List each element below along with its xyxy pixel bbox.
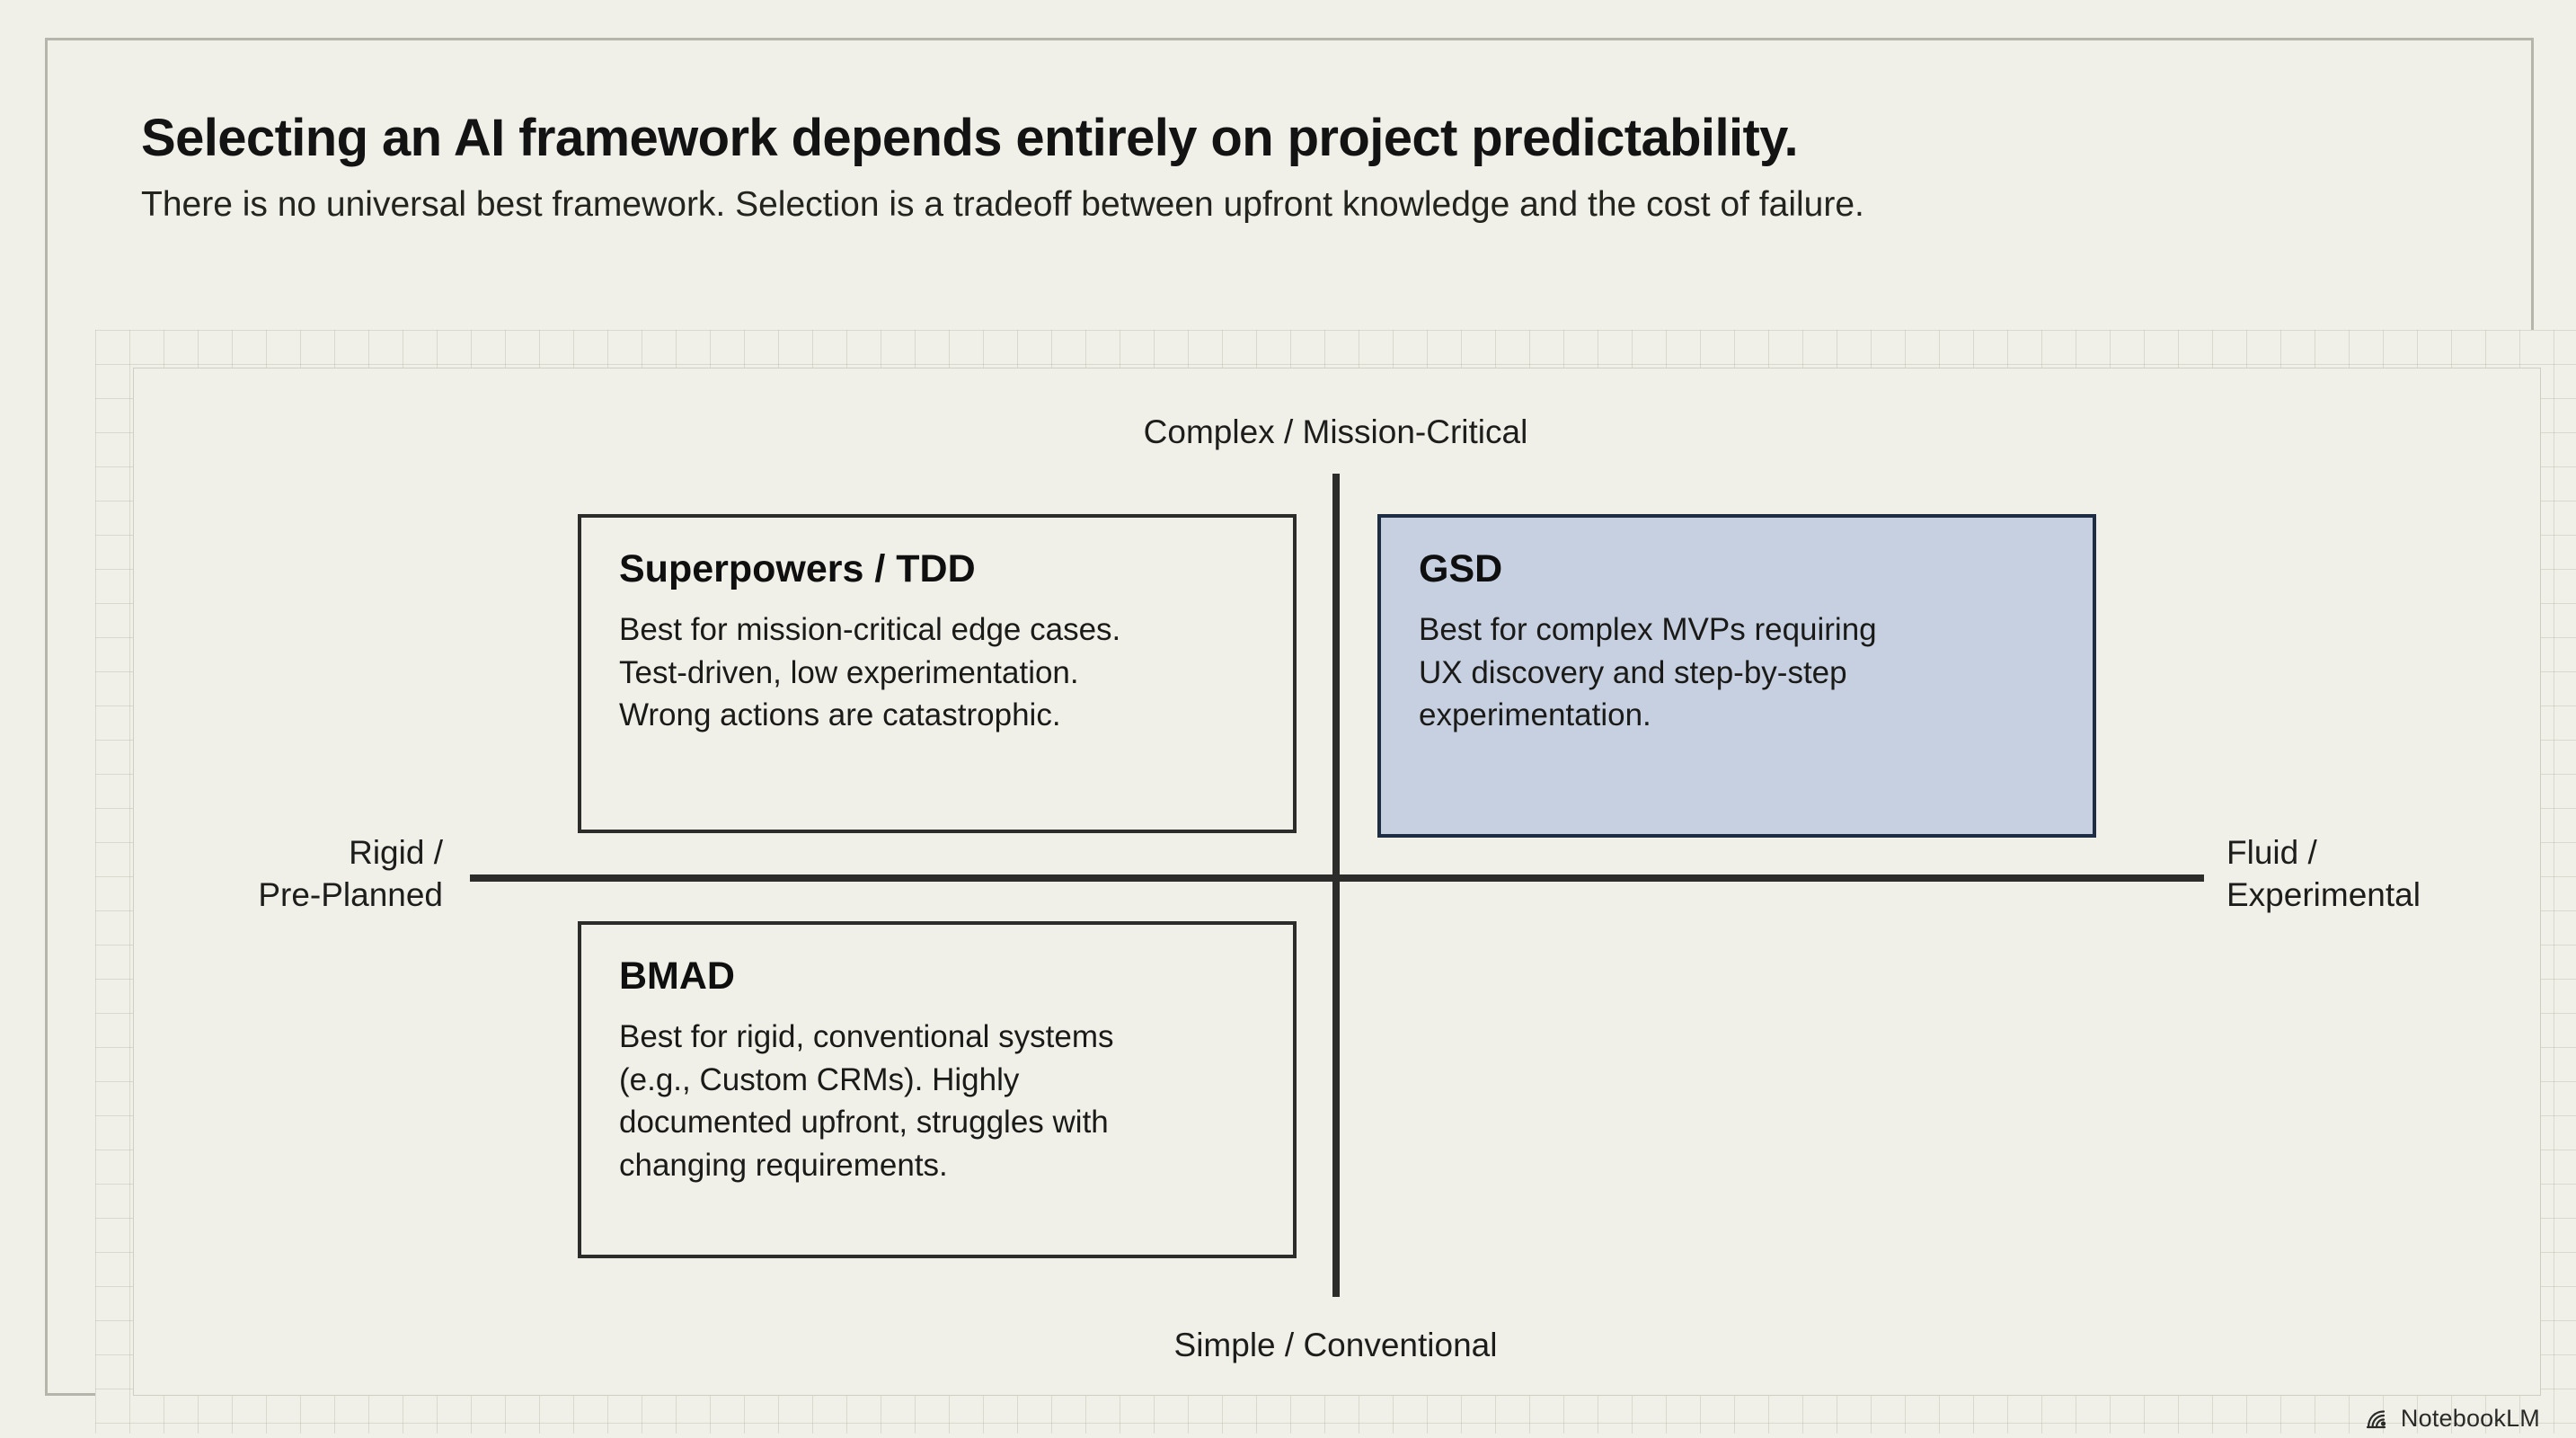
quadrant-title: GSD bbox=[1419, 548, 2058, 590]
quadrant-body: Best for rigid, conventional systems (e.… bbox=[619, 1016, 1259, 1186]
quadrant-card-gsd[interactable]: GSD Best for complex MVPs requiring UX d… bbox=[1377, 514, 2096, 838]
notebooklm-watermark-label: NotebookLM bbox=[2401, 1405, 2540, 1433]
quadrant-body: Best for mission-critical edge cases. Te… bbox=[619, 608, 1259, 737]
notebooklm-watermark: NotebookLM bbox=[2365, 1405, 2540, 1433]
vertical-axis-line bbox=[1332, 474, 1340, 1297]
quadrant-title: BMAD bbox=[619, 955, 1259, 998]
page-title: Selecting an AI framework depends entire… bbox=[141, 109, 2540, 168]
infographic-canvas: Selecting an AI framework depends entire… bbox=[0, 0, 2576, 1438]
axis-label-left: Rigid / Pre-Planned bbox=[155, 831, 443, 917]
axis-label-bottom: Simple / Conventional bbox=[48, 1324, 2576, 1366]
axis-label-right: Fluid / Experimental bbox=[2226, 831, 2568, 917]
page-subtitle: There is no universal best framework. Se… bbox=[141, 181, 2315, 228]
outer-frame: Selecting an AI framework depends entire… bbox=[45, 38, 2534, 1396]
quadrant-title: Superpowers / TDD bbox=[619, 548, 1259, 590]
axis-label-top: Complex / Mission-Critical bbox=[48, 411, 2576, 453]
quadrant-card-superpowers-tdd[interactable]: Superpowers / TDD Best for mission-criti… bbox=[578, 514, 1297, 833]
notebooklm-spiral-icon bbox=[2365, 1407, 2392, 1432]
quadrant-card-bmad[interactable]: BMAD Best for rigid, conventional system… bbox=[578, 921, 1297, 1258]
quadrant-body: Best for complex MVPs requiring UX disco… bbox=[1419, 608, 2058, 737]
header: Selecting an AI framework depends entire… bbox=[141, 109, 2540, 228]
